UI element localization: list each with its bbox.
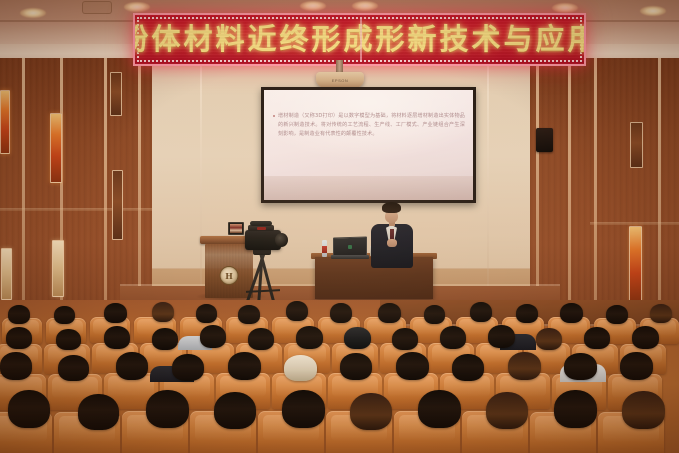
audience-head-foreground (214, 392, 256, 429)
audience-head (516, 304, 538, 323)
audience-head (6, 327, 32, 349)
audience-head (564, 353, 597, 380)
audience-head (392, 328, 418, 350)
audience-head (488, 325, 515, 348)
panel-divider-horizontal (0, 208, 152, 211)
audience-head-with-cap (284, 355, 317, 381)
audience-head (248, 328, 274, 350)
lecture-hall-photo: 粉体材料近终形成形新技术与应用 EPSON 增材制造（又称3D打印）是以数字模型… (0, 0, 679, 453)
led-banner: 粉体材料近终形成形新技术与应用 (133, 13, 586, 66)
slide-bullet-icon (273, 115, 275, 117)
audience-head (560, 303, 583, 323)
audience-head (0, 352, 32, 380)
panel-divider-horizontal (590, 222, 679, 225)
audience-head (296, 326, 323, 349)
audience-head-foreground (418, 390, 461, 428)
screen-lower-shade (264, 176, 473, 200)
slide-bullet-text: 增材制造（又称3D打印）是以数字模型为基础，将材料逐层增材制造出实体物品的新兴制… (278, 112, 465, 138)
video-camera-handle (250, 221, 272, 226)
wall-light-niche (630, 122, 643, 168)
ceiling-projector: EPSON (316, 72, 364, 88)
projection-screen-frame: 增材制造（又称3D打印）是以数字模型为基础，将材料逐层增材制造出实体物品的新兴制… (261, 87, 476, 203)
lcd-preview-image (230, 224, 242, 233)
audience-head (104, 303, 127, 323)
presenter (368, 203, 416, 265)
audience-head (196, 304, 217, 323)
audience-head (340, 353, 372, 380)
audience-head (104, 326, 130, 349)
wall-light-niche (110, 72, 122, 116)
laptop-base (331, 255, 369, 259)
audience-head-foreground (146, 390, 189, 428)
audience-head-foreground (554, 390, 597, 428)
audience-head (238, 305, 260, 324)
audience-head (58, 355, 89, 381)
wall-seam (487, 60, 489, 302)
tripod-spreader (246, 289, 280, 293)
water-bottle-label (322, 246, 327, 253)
audience-head (632, 326, 659, 349)
audience-head-foreground (622, 391, 665, 429)
wall-light-niche (1, 248, 12, 300)
video-camera-accent-stripe (257, 227, 266, 230)
wall-light-niche (629, 226, 642, 302)
audience-head (584, 327, 610, 349)
audience-head (330, 303, 352, 323)
led-banner-panel-seam (360, 17, 362, 62)
audience-head (228, 352, 261, 380)
audience-head (286, 301, 308, 321)
audience-head (508, 352, 541, 380)
video-camera-lens-icon (275, 233, 288, 247)
ceiling-downlight (124, 2, 150, 12)
projector-brand-label: EPSON (332, 78, 349, 83)
wall-mounted-loudspeaker (536, 128, 553, 152)
ceiling-vent (82, 1, 112, 14)
ceiling-downlight (352, 1, 378, 11)
presenter-hair (382, 202, 401, 213)
audience-head (8, 305, 30, 324)
audience-head (440, 326, 466, 349)
audience-head-foreground (78, 394, 119, 430)
audience-head-foreground (350, 393, 392, 430)
audience-head-foreground (282, 390, 325, 428)
audience-head (172, 354, 204, 381)
wall-light-niche (52, 240, 64, 297)
audience-head (200, 325, 226, 348)
audience-head (152, 328, 178, 350)
audience-head (536, 328, 562, 350)
ceiling-downlight (20, 8, 46, 18)
audience-head-with-cap (344, 327, 371, 349)
wall-seam (200, 60, 202, 302)
ceiling-downlight (300, 1, 326, 11)
audience-head (452, 354, 484, 381)
video-camera-lcd-monitor (228, 222, 244, 235)
audience-head (378, 303, 401, 323)
audience-head (54, 306, 75, 324)
projection-screen: 增材制造（又称3D打印）是以数字模型为基础，将材料逐层增材制造出实体物品的新兴制… (264, 90, 473, 200)
audience-head (396, 352, 429, 380)
presenter-hands (387, 239, 397, 247)
audience-head (470, 302, 492, 322)
slide-content: 增材制造（又称3D打印）是以数字模型为基础，将材料逐层增材制造出实体物品的新兴制… (273, 112, 465, 138)
ceiling-downlight (640, 6, 666, 16)
audience-head (606, 305, 628, 324)
audience-head (620, 352, 653, 380)
audience-head-foreground (8, 390, 50, 428)
audience-head (116, 352, 148, 380)
wall-light-niche (0, 90, 10, 154)
audience-head (650, 304, 672, 323)
audience-head-foreground (486, 392, 528, 429)
wall-light-niche (112, 170, 123, 240)
audience-head (424, 305, 445, 324)
ceiling-downlight (552, 3, 578, 13)
audience-head (152, 302, 174, 322)
audience-head (56, 329, 81, 350)
laptop-logo-icon (348, 245, 352, 249)
wall-light-niche (50, 113, 62, 183)
